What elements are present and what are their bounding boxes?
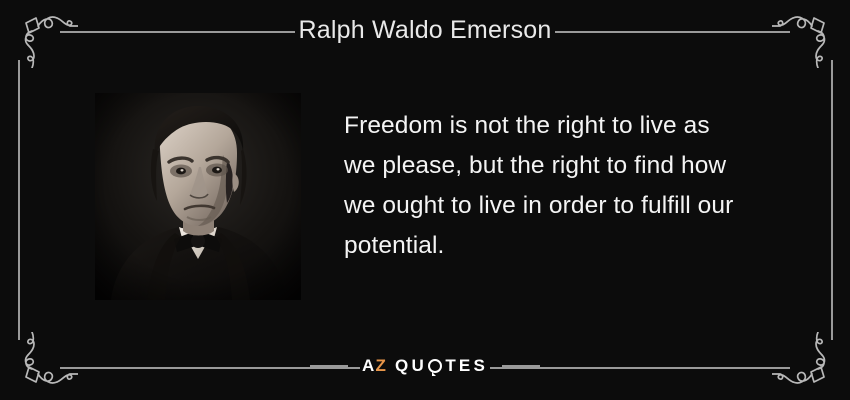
logo-letter-z: Z — [375, 356, 387, 376]
logo-quotes-suffix: TES — [445, 356, 488, 376]
logo-quotes-prefix: QU — [395, 356, 427, 376]
author-portrait-image — [95, 93, 301, 300]
logo-wordmark: AZ QUTES — [362, 356, 488, 376]
logo-dash-right — [502, 365, 540, 367]
frame-rule-left — [18, 60, 20, 340]
logo-dash-left — [310, 365, 348, 367]
logo-letter-a: A — [362, 356, 375, 376]
quote-text: Freedom is not the right to live as we p… — [344, 106, 744, 266]
author-name: Ralph Waldo Emerson — [0, 13, 850, 47]
logo-word-quotes: QUTES — [395, 356, 488, 376]
speech-bubble-icon — [428, 359, 442, 373]
frame-rule-right — [831, 60, 833, 340]
az-quotes-logo[interactable]: AZ QUTES — [0, 355, 850, 377]
quote-card: Ralph Waldo Emerson — [0, 0, 850, 400]
